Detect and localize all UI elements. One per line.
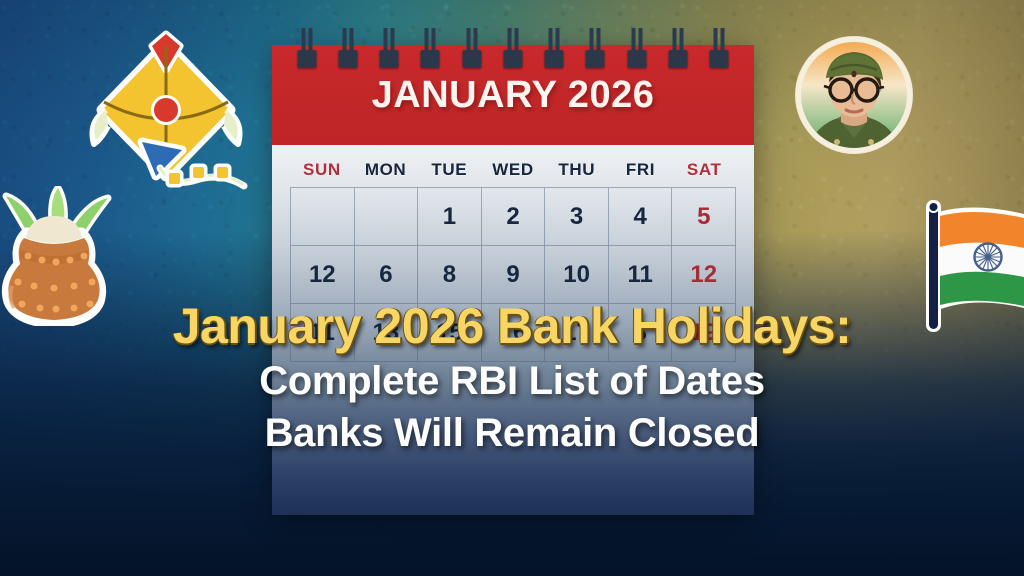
- calendar-day-cell[interactable]: 12: [672, 246, 736, 304]
- headline-title: January 2026 Bank Holidays:: [0, 300, 1024, 352]
- binding-ring-icon: [543, 28, 565, 68]
- weekday-thu: THU: [545, 160, 609, 180]
- headline-subtitle-line2: Banks Will Remain Closed: [0, 410, 1024, 456]
- weekday-sun: SUN: [290, 160, 354, 180]
- calendar-day-cell[interactable]: 2: [482, 188, 546, 246]
- binding-ring-icon: [337, 28, 359, 68]
- binding-ring-icon: [502, 28, 524, 68]
- calendar-weekday-header: SUN MON TUE WED THU FRI SAT: [290, 153, 736, 187]
- calendar-week-row: 12 6 8 9 10 11 12: [291, 246, 736, 304]
- weekday-mon: MON: [354, 160, 418, 180]
- calendar-day-cell[interactable]: 10: [545, 246, 609, 304]
- headline-block: January 2026 Bank Holidays: Complete RBI…: [0, 300, 1024, 456]
- calendar-day-cell[interactable]: 11: [609, 246, 673, 304]
- calendar-day-cell[interactable]: 5: [672, 188, 736, 246]
- calendar-day-cell[interactable]: 6: [355, 246, 419, 304]
- binding-ring-icon: [708, 28, 730, 68]
- calendar-day-cell[interactable]: 9: [482, 246, 546, 304]
- calendar-day-cell[interactable]: [355, 188, 419, 246]
- calendar-day-cell[interactable]: 12: [291, 246, 355, 304]
- subhas-chandra-bose-portrait: [793, 34, 915, 156]
- binding-ring-icon: [584, 28, 606, 68]
- calendar-day-cell[interactable]: 4: [609, 188, 673, 246]
- weekday-tue: TUE: [417, 160, 481, 180]
- calendar-day-cell[interactable]: 3: [545, 188, 609, 246]
- calendar-spiral-binding: [272, 28, 754, 68]
- weekday-sat: SAT: [672, 160, 736, 180]
- binding-ring-icon: [461, 28, 483, 68]
- binding-ring-icon: [419, 28, 441, 68]
- binding-ring-icon: [626, 28, 648, 68]
- poster-canvas: JANUARY 2026 SUN MON TUE WED THU FRI SAT…: [0, 0, 1024, 576]
- kite-icon: [78, 26, 250, 191]
- binding-ring-icon: [667, 28, 689, 68]
- weekday-fri: FRI: [609, 160, 673, 180]
- calendar-month-title: JANUARY 2026: [372, 74, 655, 117]
- weekday-wed: WED: [481, 160, 545, 180]
- calendar-day-cell[interactable]: [291, 188, 355, 246]
- calendar-day-cell[interactable]: 8: [418, 246, 482, 304]
- binding-ring-icon: [296, 28, 318, 68]
- headline-subtitle-line1: Complete RBI List of Dates: [0, 358, 1024, 404]
- binding-ring-icon: [378, 28, 400, 68]
- calendar-day-cell[interactable]: 1: [418, 188, 482, 246]
- calendar-week-row: 1 2 3 4 5: [291, 188, 736, 246]
